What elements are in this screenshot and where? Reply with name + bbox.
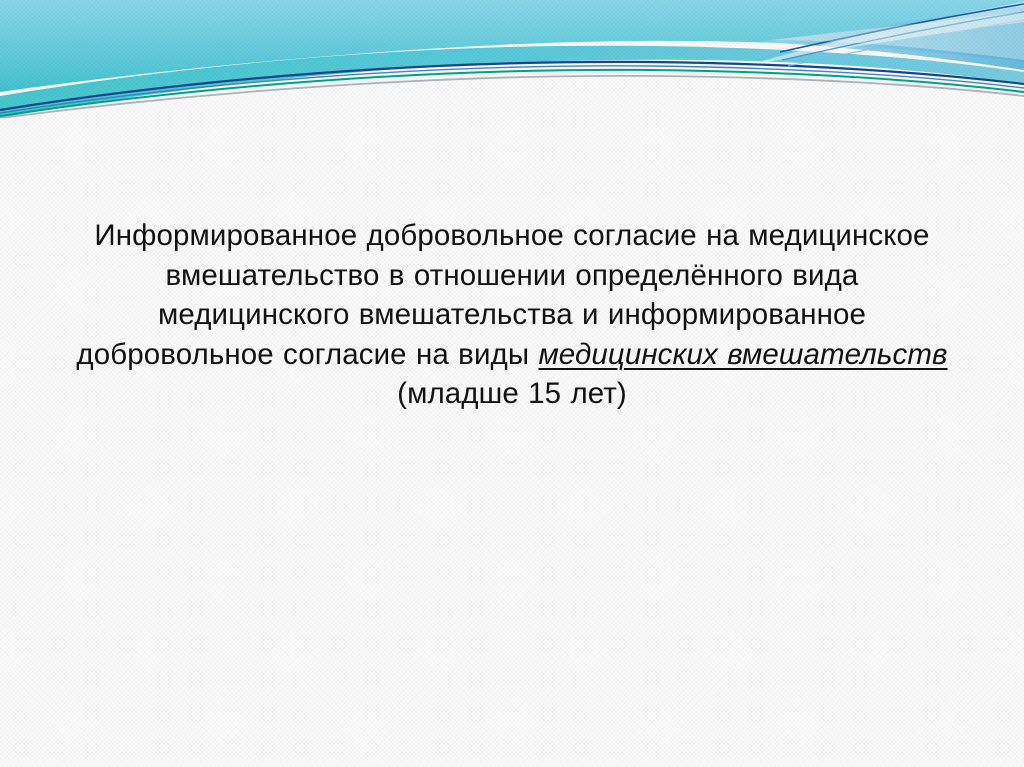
waveform-header-decoration xyxy=(0,0,1024,118)
text-line-5: (младше 15 лет) xyxy=(62,374,962,414)
text-line-4: добровольное согласие на виды медицински… xyxy=(62,335,962,375)
slide-body-text: Информированное добровольное согласие на… xyxy=(62,216,962,414)
text-line-1: Информированное добровольное согласие на… xyxy=(62,216,962,256)
header-wave-graphic xyxy=(0,0,1024,118)
text-line-3: медицинского вмешательства и информирова… xyxy=(62,295,962,335)
text-line-4-plain: добровольное согласие на виды xyxy=(76,338,538,371)
presentation-slide: Информированное добровольное согласие на… xyxy=(0,0,1024,767)
text-line-2: вмешательство в отношении определённого … xyxy=(62,256,962,296)
emphasized-phrase: медицинских вмешательств xyxy=(538,338,947,371)
